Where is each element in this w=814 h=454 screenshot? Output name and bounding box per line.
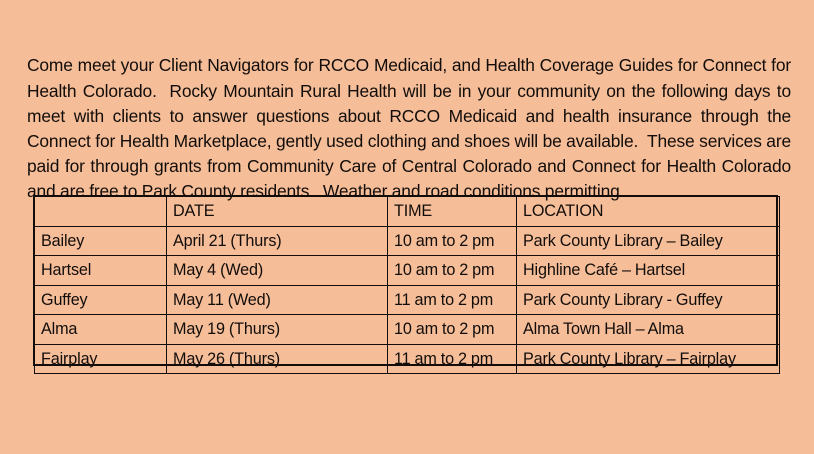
schedule-table-container: DATE TIME LOCATION Bailey April 21 (Thur… — [34, 196, 779, 374]
column-header-location: LOCATION — [517, 197, 780, 227]
cell-location: Park County Library - Guffey — [517, 285, 780, 315]
cell-date: April 21 (Thurs) — [167, 226, 388, 256]
table-row: Hartsel May 4 (Wed) 10 am to 2 pm Highli… — [35, 256, 780, 286]
intro-paragraph: Come meet your Client Navigators for RCC… — [27, 53, 791, 204]
schedule-table: DATE TIME LOCATION Bailey April 21 (Thur… — [34, 196, 780, 374]
cell-date: May 11 (Wed) — [167, 285, 388, 315]
schedule-table-body: Bailey April 21 (Thurs) 10 am to 2 pm Pa… — [35, 226, 780, 374]
column-header-date: DATE — [167, 197, 388, 227]
cell-date: May 4 (Wed) — [167, 256, 388, 286]
cell-time: 11 am to 2 pm — [388, 344, 517, 374]
cell-time: 10 am to 2 pm — [388, 226, 517, 256]
column-header-time: TIME — [388, 197, 517, 227]
column-header-town — [35, 197, 167, 227]
cell-town: Bailey — [35, 226, 167, 256]
cell-location: Alma Town Hall – Alma — [517, 315, 780, 345]
table-row: Guffey May 11 (Wed) 11 am to 2 pm Park C… — [35, 285, 780, 315]
cell-time: 10 am to 2 pm — [388, 256, 517, 286]
cell-town: Alma — [35, 315, 167, 345]
cell-town: Fairplay — [35, 344, 167, 374]
cell-location: Highline Café – Hartsel — [517, 256, 780, 286]
cell-location: Park County Library – Fairplay — [517, 344, 780, 374]
table-row: Fairplay May 26 (Thurs) 11 am to 2 pm Pa… — [35, 344, 780, 374]
table-header-row: DATE TIME LOCATION — [35, 197, 780, 227]
flyer-page: Come meet your Client Navigators for RCC… — [0, 0, 814, 454]
cell-town: Guffey — [35, 285, 167, 315]
schedule-table-head: DATE TIME LOCATION — [35, 197, 780, 227]
cell-date: May 26 (Thurs) — [167, 344, 388, 374]
table-row: Alma May 19 (Thurs) 10 am to 2 pm Alma T… — [35, 315, 780, 345]
cell-time: 10 am to 2 pm — [388, 315, 517, 345]
table-row: Bailey April 21 (Thurs) 10 am to 2 pm Pa… — [35, 226, 780, 256]
cell-location: Park County Library – Bailey — [517, 226, 780, 256]
cell-date: May 19 (Thurs) — [167, 315, 388, 345]
cell-town: Hartsel — [35, 256, 167, 286]
cell-time: 11 am to 2 pm — [388, 285, 517, 315]
